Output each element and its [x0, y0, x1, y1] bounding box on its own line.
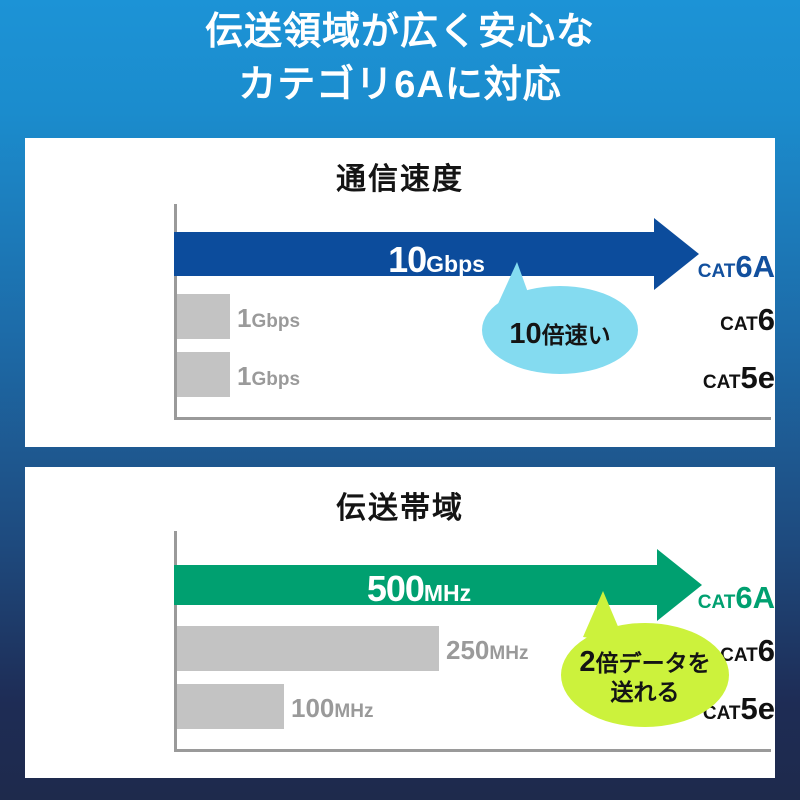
bar-cat5e-speed: [177, 352, 230, 397]
bar-value-number: 100: [291, 693, 334, 723]
card-transmission-bandwidth: 伝送帯域 CAT6A 500MHz CAT6 2: [25, 467, 775, 778]
callout-text-bandwidth: 2倍データを 送れる: [537, 647, 753, 705]
callout-bubble-speed: [455, 256, 665, 376]
card-communication-speed: 通信速度 CAT6A 10Gbps CAT6 1: [25, 138, 775, 447]
bar-value-cat5e-speed: 1Gbps: [237, 363, 300, 389]
callout-rest: 倍速い: [542, 322, 611, 348]
bar-value-unit: Gbps: [251, 311, 300, 332]
x-axis-line-bandwidth: [174, 749, 771, 752]
headline-line-2: カテゴリ6Aに対応: [0, 59, 800, 112]
poster-root: 伝送領域が広く安心な カテゴリ6Aに対応 通信速度 CAT6A 10Gbps: [0, 0, 800, 800]
category-prefix: CAT: [698, 261, 736, 282]
chart-plot-speed: CAT6A 10Gbps CAT6 1Gbps CAT5e: [25, 138, 775, 447]
callout-line2: 送れる: [537, 680, 753, 704]
bar-value-unit: Gbps: [251, 369, 300, 390]
bar-cat6-speed: [177, 294, 230, 339]
bar-value-cat6-speed: 1Gbps: [237, 305, 300, 331]
category-number: 6A: [735, 249, 775, 284]
bar-cat6-bandwidth: [177, 626, 439, 671]
category-prefix: CAT: [720, 314, 758, 335]
bar-value-number: 500: [367, 568, 424, 609]
category-number: 5e: [741, 360, 775, 395]
x-axis-line-speed: [174, 417, 771, 420]
category-number: 6: [758, 302, 775, 337]
callout-number: 2: [579, 646, 595, 678]
bar-value-unit: MHz: [334, 701, 373, 722]
bar-value-unit: MHz: [489, 643, 528, 664]
bar-value-number: 1: [237, 361, 251, 391]
bar-value-number: 10: [388, 239, 426, 280]
category-number: 6: [758, 633, 775, 668]
bar-value-number: 250: [446, 635, 489, 665]
bar-cat5e-bandwidth: [177, 684, 284, 729]
speech-bubble-icon: [455, 256, 665, 376]
callout-rest: 倍データを: [596, 650, 711, 676]
bar-value-cat5e-bandwidth: 100MHz: [291, 695, 373, 721]
bar-value-unit: MHz: [424, 580, 471, 606]
headline-line-1: 伝送領域が広く安心な: [0, 6, 800, 59]
bar-value-number: 1: [237, 303, 251, 333]
callout-text-speed: 10倍速い: [455, 319, 665, 349]
chart-plot-bandwidth: CAT6A 500MHz CAT6 250MHz CAT5e: [25, 467, 775, 778]
callout-number: 10: [509, 318, 541, 350]
poster-headline: 伝送領域が広く安心な カテゴリ6Aに対応: [0, 6, 800, 112]
bar-value-cat6-bandwidth: 250MHz: [446, 637, 528, 663]
category-prefix: CAT: [703, 372, 741, 393]
